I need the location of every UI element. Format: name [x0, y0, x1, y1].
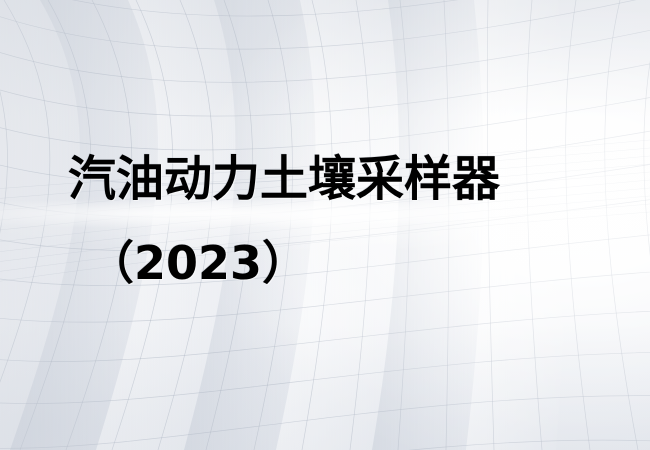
slide-title-line-2: （2023） [88, 234, 308, 292]
slide-title-line-1: 汽油动力土壤采样器 [68, 150, 500, 208]
title-block: 汽油动力土壤采样器 （2023） [0, 0, 650, 450]
title-slide: 汽油动力土壤采样器 （2023） [0, 0, 650, 450]
